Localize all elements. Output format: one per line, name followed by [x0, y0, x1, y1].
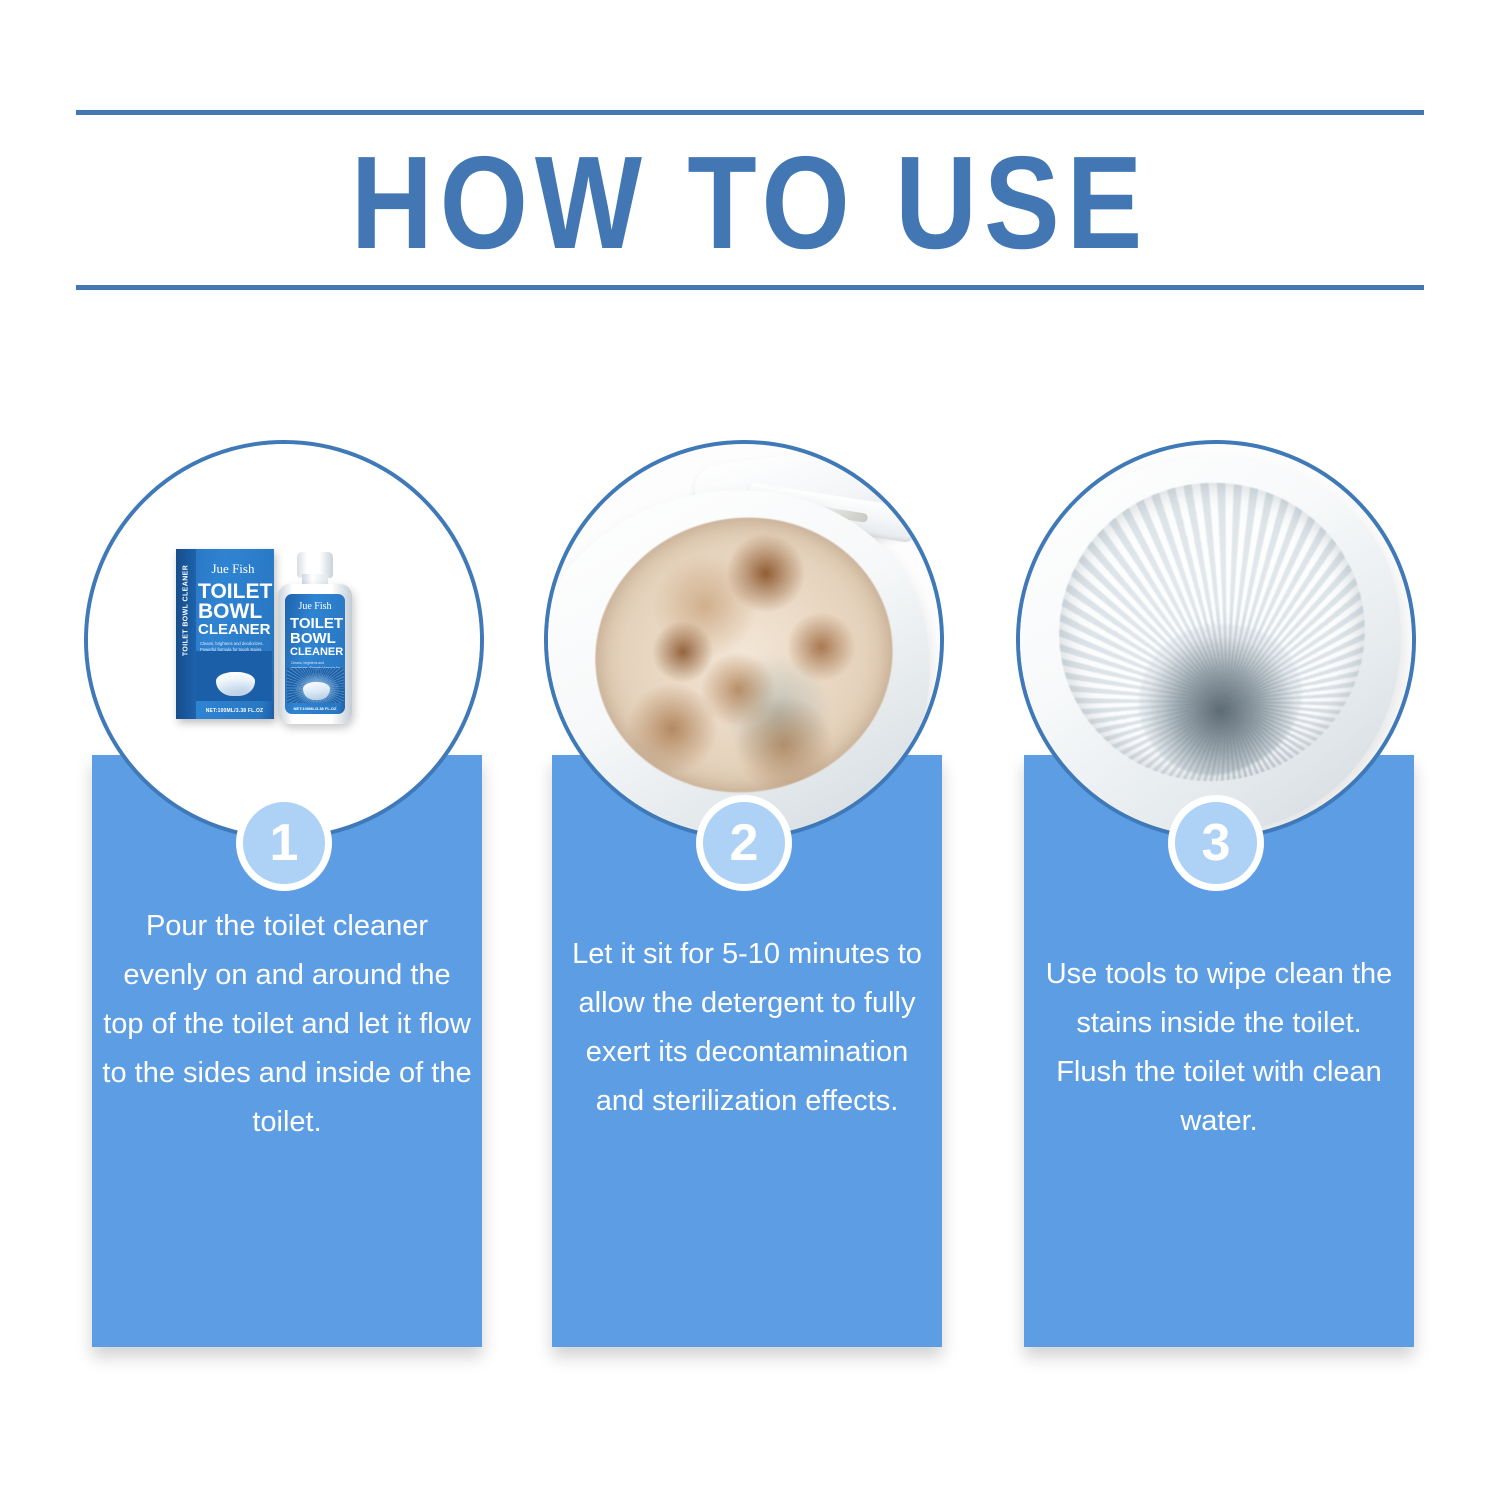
product-carton-volume: NET:100ML/3.38 FL.OZ	[198, 708, 271, 714]
step-3-image-circle	[1016, 440, 1416, 840]
step-number-badge-1: 1	[236, 795, 332, 891]
product-bottle-toilet-artwork	[287, 668, 344, 703]
step-card-1: TOILET BOWL CLEANER Jue Fish TOILET BOWL…	[84, 440, 484, 1390]
header-bottom-rule	[76, 285, 1424, 290]
step-card-2: 2 Let it sit for 5-10 minutes to allow t…	[544, 440, 944, 1390]
product-bottle-brand: Jue Fish	[285, 601, 345, 612]
step-caption-3: Use tools to wipe clean the stains insid…	[1034, 950, 1404, 1146]
page-title: HOW TO USE	[170, 120, 1329, 285]
steps-row: TOILET BOWL CLEANER Jue Fish TOILET BOWL…	[0, 440, 1500, 1390]
step-number-2: 2	[730, 817, 759, 869]
product-carton-line1: TOILET	[198, 581, 270, 602]
dirty-toilet-bowl-photo	[548, 444, 940, 836]
product-carton-line2: BOWL	[198, 601, 270, 622]
step-2-image-circle	[544, 440, 944, 840]
step-number-3: 3	[1202, 817, 1231, 869]
product-bottle-line3: CLEANER	[290, 647, 342, 658]
product-bottle-volume: NET:100ML/3.38 FL.OZ	[285, 706, 345, 711]
clean-bowl-scene	[1020, 444, 1412, 836]
product-bottle-line1: TOILET	[290, 616, 342, 631]
product-package-photo: TOILET BOWL CLEANER Jue Fish TOILET BOWL…	[88, 444, 480, 836]
product-photo-scene: TOILET BOWL CLEANER Jue Fish TOILET BOWL…	[88, 444, 480, 836]
product-carton-brand: Jue Fish	[196, 561, 270, 577]
page-header: HOW TO USE	[76, 110, 1424, 290]
product-carton-line3: CLEANER	[198, 622, 270, 637]
flushing-clean-toilet-bowl-photo	[1020, 444, 1412, 836]
product-bottle-line2: BOWL	[290, 631, 342, 646]
step-1-image-circle: TOILET BOWL CLEANER Jue Fish TOILET BOWL…	[84, 440, 484, 840]
step-caption-1: Pour the toilet cleaner evenly on and ar…	[102, 902, 472, 1147]
step-number-badge-3: 3	[1168, 795, 1264, 891]
header-top-rule	[76, 110, 1424, 115]
product-carton-toilet-artwork	[196, 651, 272, 701]
product-carton-spine: TOILET BOWL CLEANER	[176, 549, 196, 719]
step-caption-2: Let it sit for 5-10 minutes to allow the…	[562, 930, 932, 1126]
product-carton-spine-text: TOILET BOWL CLEANER	[183, 555, 190, 667]
product-bottle-label: Jue Fish TOILET BOWL CLEANER Cleans, bri…	[285, 594, 345, 714]
product-bottle: Jue Fish TOILET BOWL CLEANER Cleans, bri…	[278, 552, 352, 724]
step-number-badge-2: 2	[696, 795, 792, 891]
dirty-bowl-scene	[548, 444, 940, 836]
step-card-3: 3 Use tools to wipe clean the stains ins…	[1016, 440, 1416, 1390]
product-carton: TOILET BOWL CLEANER Jue Fish TOILET BOWL…	[176, 549, 274, 719]
step-number-1: 1	[270, 817, 299, 869]
